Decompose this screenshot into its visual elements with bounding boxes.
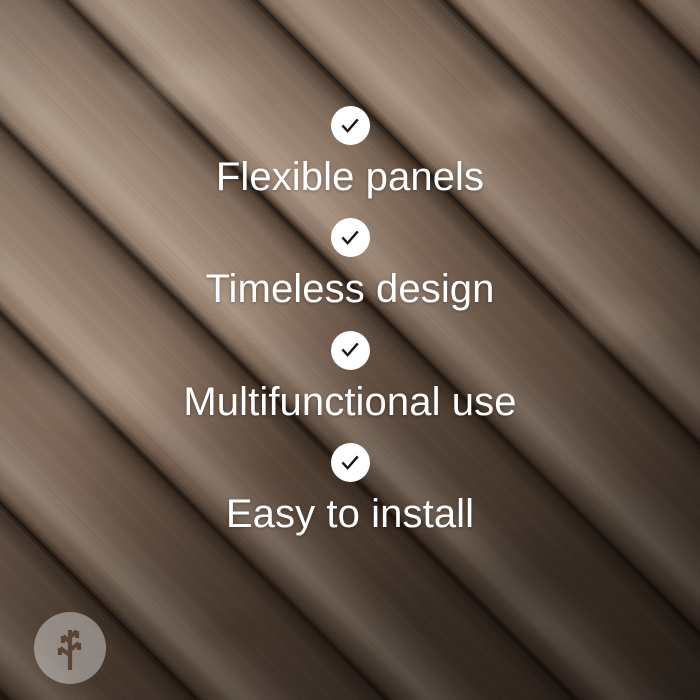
check-icon <box>331 331 370 370</box>
feature-item: Easy to install <box>0 443 700 537</box>
tree-icon <box>46 624 94 672</box>
feature-item: Multifunctional use <box>0 331 700 425</box>
feature-item: Flexible panels <box>0 106 700 200</box>
feature-label: Timeless design <box>205 266 494 312</box>
check-icon <box>331 218 370 257</box>
feature-item: Timeless design <box>0 218 700 312</box>
feature-list: Flexible panels Timeless design Multifun… <box>0 0 700 700</box>
feature-label: Easy to install <box>226 491 474 537</box>
promo-graphic: Flexible panels Timeless design Multifun… <box>0 0 700 700</box>
feature-label: Flexible panels <box>216 154 484 200</box>
check-icon <box>331 443 370 482</box>
brand-logo <box>34 612 106 684</box>
check-icon <box>331 106 370 145</box>
feature-label: Multifunctional use <box>183 379 516 425</box>
